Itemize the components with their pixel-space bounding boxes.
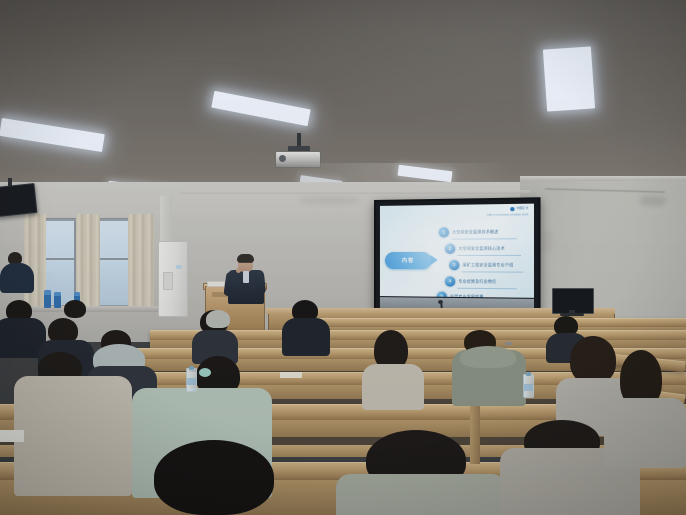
- wall-ceiling-trim: [520, 176, 686, 181]
- slide-surface: 中国矿大 中国矿业大学(北京)安全与应急管理工程学院 内容 1 大空间安全监测技…: [380, 204, 534, 298]
- ceiling-light-panel: [543, 46, 595, 111]
- slide-bullet-number: 1: [439, 227, 449, 237]
- bench-leg: [470, 404, 480, 464]
- slide-item-text: 大空间安全监测技术概述: [452, 230, 498, 235]
- wall-ceiling-trim: [180, 190, 530, 194]
- person-body: [604, 398, 686, 468]
- bench-hook: [505, 342, 512, 345]
- paper-sheet: [0, 430, 24, 442]
- paper-sheet: [280, 372, 302, 378]
- wall-mounted-tv: [0, 183, 37, 217]
- slide-item: 2 大空间安全监测核心技术: [445, 244, 505, 254]
- slide-bullet-number: 2: [445, 244, 455, 254]
- person-hair: [154, 440, 274, 515]
- slide-item-underline: [457, 255, 521, 256]
- projection-screen: 中国矿大 中国矿业大学(北京)安全与应急管理工程学院 内容 1 大空间安全监测技…: [374, 197, 541, 317]
- slide-item: 4 专业优势及行业地位: [445, 276, 496, 287]
- slide-logo-subtext: 中国矿业大学(北京)安全与应急管理工程学院: [486, 213, 528, 217]
- wall-stain: [300, 196, 360, 205]
- window-sill: [20, 306, 160, 312]
- hair-scrunchie: [199, 368, 211, 377]
- speaker-shirt: [243, 271, 249, 283]
- person-body: [14, 376, 132, 496]
- person-body: [336, 474, 506, 515]
- wall-stain: [640, 196, 666, 206]
- thermos-bottle: [54, 292, 61, 308]
- slide-item: 3 采矿工程安全监测专业介绍: [449, 260, 513, 270]
- person-body: [0, 263, 34, 293]
- window-curtain: [24, 214, 46, 310]
- slide-bullet-number: 3: [449, 260, 459, 270]
- speaker-hair: [237, 254, 254, 262]
- slide-item-underline: [457, 288, 516, 289]
- slide-logo-text: 中国矿大: [516, 208, 528, 211]
- slide-contents-pill: 内容: [385, 252, 432, 269]
- person-hair: [570, 336, 616, 384]
- ac-duct: [160, 196, 172, 242]
- microphone-head: [438, 300, 443, 304]
- person-hood: [206, 310, 230, 328]
- slide-bullet-number: 4: [445, 276, 455, 286]
- slide-logo: 中国矿大: [511, 207, 529, 211]
- person-hair: [64, 300, 86, 318]
- slide-item-text: 专业优势及行业地位: [458, 279, 496, 284]
- ac-vent: [163, 272, 173, 290]
- ac-display-panel: [176, 265, 182, 269]
- slide-item-text: 大空间安全监测核心技术: [458, 246, 504, 251]
- water-bottle: [523, 374, 534, 398]
- person-body: [282, 318, 330, 356]
- window-curtain: [128, 214, 154, 310]
- slide-item-underline: [451, 238, 517, 239]
- person-body: [362, 364, 424, 410]
- water-bottle: [186, 368, 197, 392]
- slide-item: 1 大空间安全监测技术概述: [439, 227, 499, 238]
- speaker-glasses: [239, 262, 252, 266]
- lecture-hall-photo: 中国矿大 中国矿业大学(北京)安全与应急管理工程学院 内容 1 大空间安全监测技…: [0, 0, 686, 515]
- slide-item-underline: [462, 271, 524, 272]
- podium-papers: [207, 281, 225, 287]
- logo-mark-icon: [511, 207, 515, 211]
- person-hood: [460, 346, 516, 368]
- slide-pill-label: 内容: [402, 257, 414, 264]
- wall-stain: [540, 230, 554, 252]
- thermos-bottle: [44, 290, 51, 308]
- slide-item-text: 采矿工程安全监测专业介绍: [463, 263, 514, 268]
- projector-lens: [279, 155, 286, 162]
